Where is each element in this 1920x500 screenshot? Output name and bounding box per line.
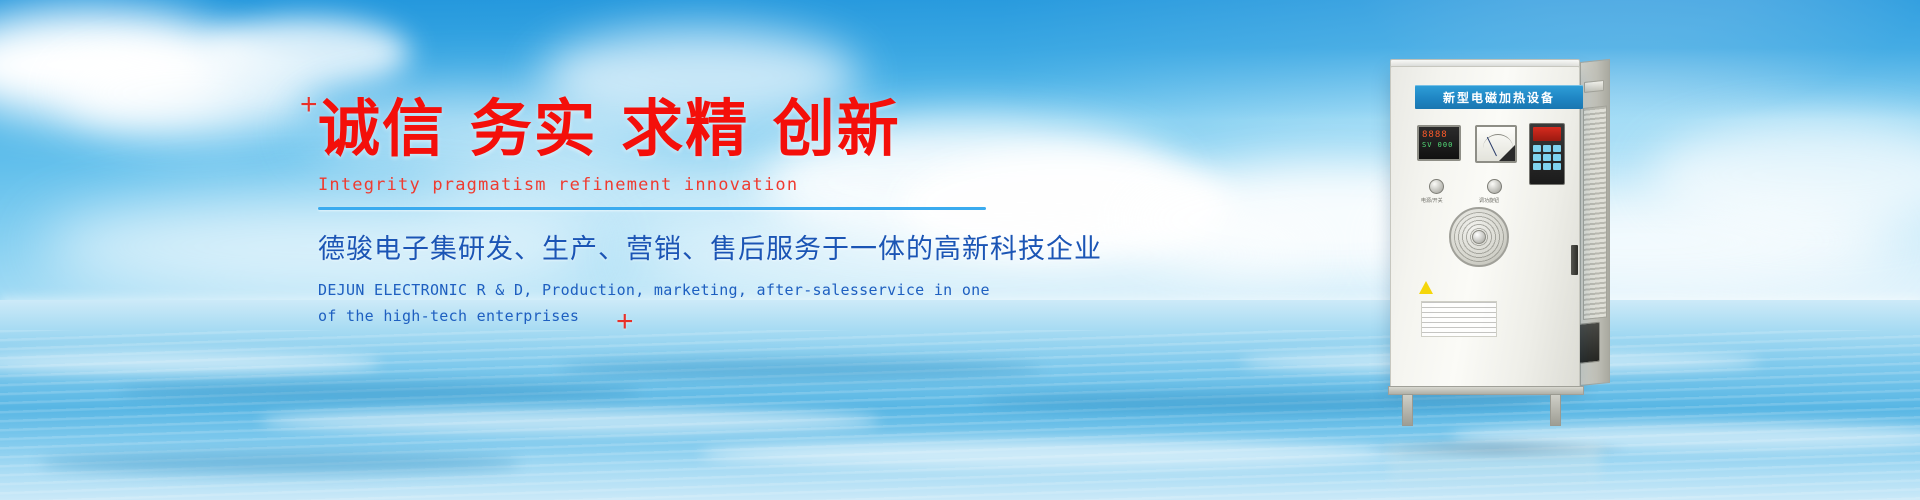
cloud-puff <box>200 18 410 88</box>
wave-shadow <box>120 382 640 402</box>
cooling-fan <box>1449 207 1509 267</box>
display-primary-value: 8888 <box>1422 130 1456 141</box>
keypad-screen <box>1533 127 1561 141</box>
machine-front-panel: 新型电磁加热设备 8888 SV 000 <box>1390 66 1580 388</box>
keypad-key <box>1553 154 1561 161</box>
wave-shadow <box>40 452 520 474</box>
machine-side-vent <box>1583 105 1607 320</box>
analog-gauge <box>1475 125 1517 163</box>
gauge-corner-mark <box>1499 145 1515 161</box>
wave-highlight <box>700 440 1400 468</box>
divider-rule <box>318 207 986 210</box>
display-secondary-value: SV 000 <box>1422 141 1456 150</box>
machine-lower-vent <box>1578 322 1600 364</box>
keypad-key <box>1553 145 1561 152</box>
warning-triangle-icon <box>1419 281 1433 294</box>
machine-reflection <box>1390 444 1600 490</box>
headline-english-tagline: Integrity pragmatism refinement innovati… <box>318 175 1018 195</box>
machine-digital-display: 8888 SV 000 <box>1417 125 1461 161</box>
subtitle-english-line-1: DEJUN ELECTRONIC R & D, Production, mark… <box>318 277 1018 303</box>
power-knob <box>1429 179 1444 194</box>
machine-spec-plate <box>1421 301 1497 337</box>
power-knob-label: 电源/开关 <box>1421 197 1443 204</box>
keypad-keys <box>1533 145 1561 170</box>
keypad-key <box>1533 154 1541 161</box>
product-machine-image: 新型电磁加热设备 8888 SV 000 <box>1372 66 1622 446</box>
keypad-key <box>1533 163 1541 170</box>
banner-text-block: 诚信 务实 求精 创新 Integrity pragmatism refinem… <box>318 96 1018 330</box>
machine-leg <box>1550 394 1561 426</box>
machine-side-handle <box>1584 80 1604 93</box>
fan-hub <box>1472 230 1486 244</box>
machine-door-handle <box>1571 245 1578 275</box>
keypad-key <box>1543 154 1551 161</box>
keypad-key <box>1543 163 1551 170</box>
promotional-banner: + + 诚信 务实 求精 创新 Integrity pragmatism ref… <box>0 0 1920 500</box>
keypad-key <box>1533 145 1541 152</box>
headline-chinese: 诚信 务实 求精 创新 <box>318 96 1018 161</box>
wave-highlight <box>260 408 880 434</box>
keypad-key <box>1543 145 1551 152</box>
subtitle-chinese: 德骏电子集研发、生产、营销、售后服务于一体的高新科技企业 <box>318 227 1018 266</box>
control-keypad <box>1529 123 1565 185</box>
machine-leg <box>1402 394 1413 426</box>
subtitle-english: DEJUN ELECTRONIC R & D, Production, mark… <box>318 277 1018 330</box>
keypad-key <box>1553 163 1561 170</box>
plus-decoration-icon: + <box>300 90 318 120</box>
wave-shadow <box>560 360 1040 378</box>
subtitle-english-line-2: of the high-tech enterprises <box>318 303 1018 329</box>
adjust-knob <box>1487 179 1502 194</box>
adjust-knob-label: 调功旋钮 <box>1479 197 1499 204</box>
machine-label-strip: 新型电磁加热设备 <box>1415 85 1583 109</box>
